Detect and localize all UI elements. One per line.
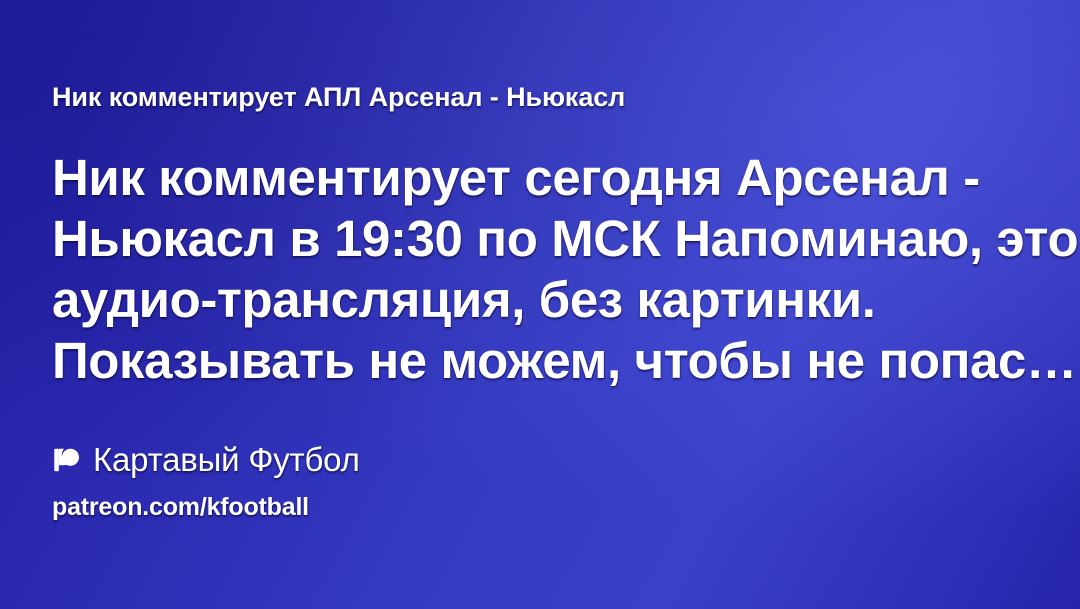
post-body-line: Ньюкасл в 19:30 по МСК Напоминаю, это: [52, 208, 1020, 269]
patreon-logo-icon: [52, 446, 80, 474]
brand-url[interactable]: patreon.com/kfootball: [52, 492, 1020, 522]
post-body-line: Показывать не можем, чтобы не попас…: [52, 330, 1020, 391]
card-footer: Картавый Футбол patreon.com/kfootball: [52, 438, 1020, 522]
post-body: Ник комментирует сегодня Арсенал - Ньюка…: [52, 147, 1020, 391]
patreon-post-card: Ник комментирует АПЛ Арсенал - Ньюкасл Н…: [0, 0, 1080, 609]
post-title: Ник комментирует АПЛ Арсенал - Ньюкасл: [52, 80, 1028, 114]
brand-name: Картавый Футбол: [93, 441, 360, 479]
card-content: Ник комментирует АПЛ Арсенал - Ньюкасл Н…: [0, 0, 1080, 609]
post-body-line: Ник комментирует сегодня Арсенал -: [52, 147, 1020, 208]
brand-row: Картавый Футбол: [52, 438, 1020, 482]
post-body-line: аудио-трансляция, без картинки.: [52, 269, 1020, 330]
